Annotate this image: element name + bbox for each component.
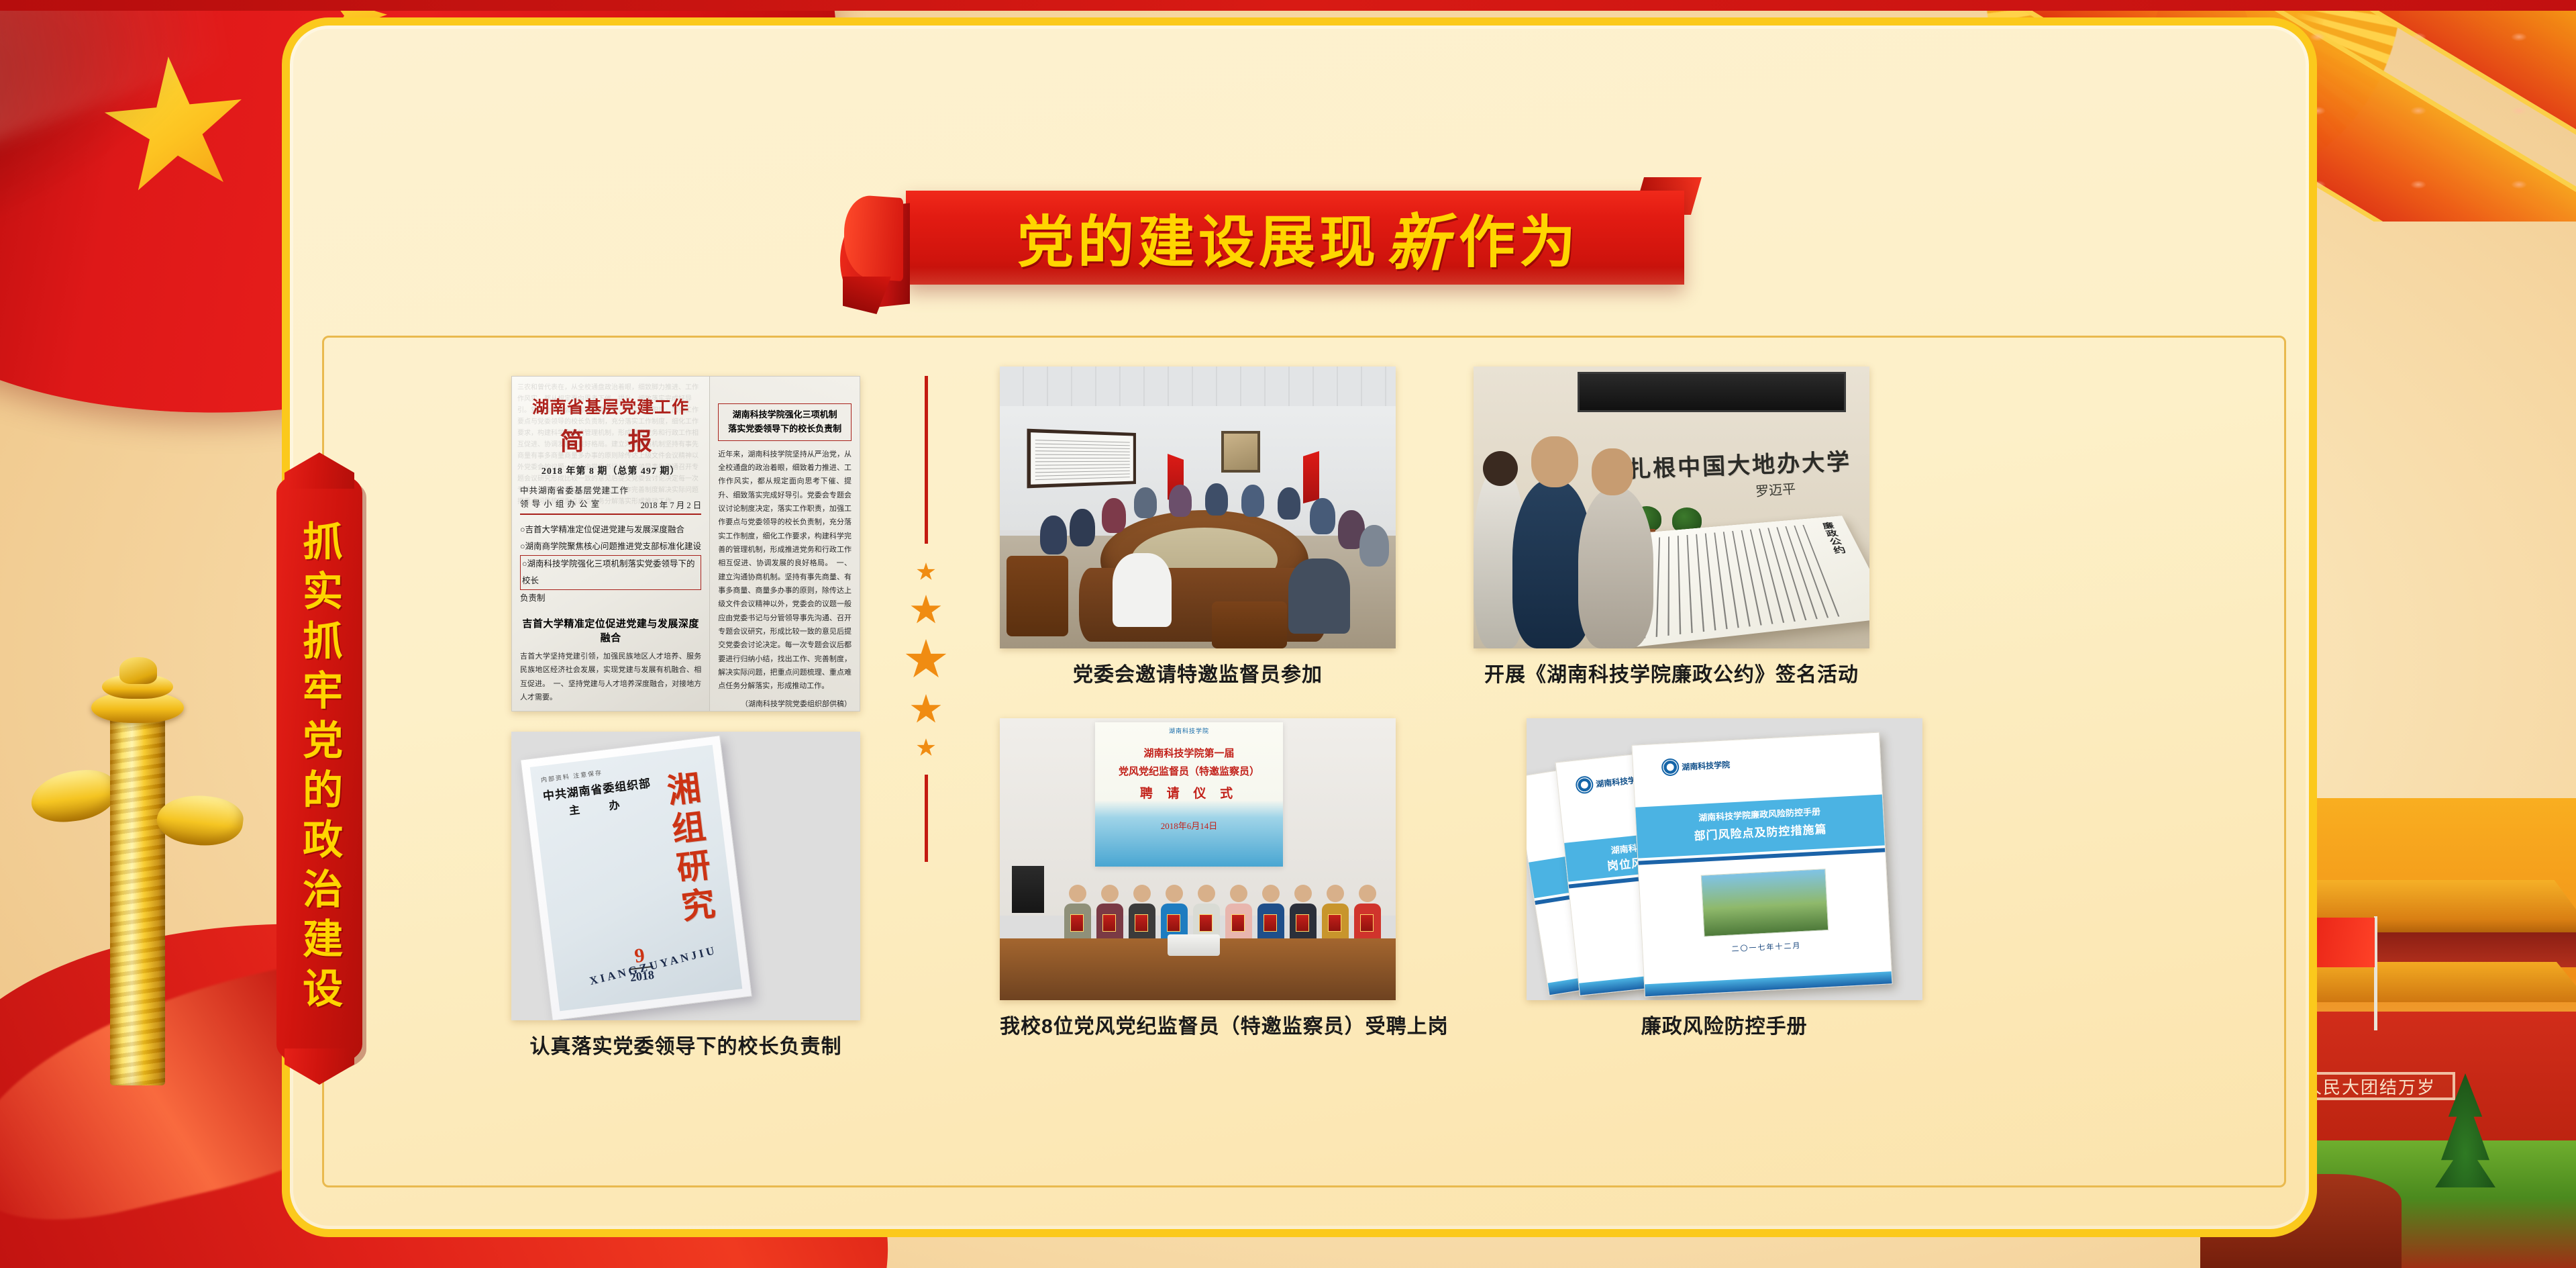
title-text-cursive: 新 — [1380, 193, 1459, 283]
chair — [1007, 556, 1068, 636]
newspaper-box-line1: 湖南科技学院强化三项机制 — [721, 408, 848, 422]
screen-line2: 党风党纪监督员（特邀监察员） — [1095, 764, 1283, 778]
ceremony-photo: 湖南科技学院 湖南科技学院第一届 党风党纪监督员（特邀监察员） 聘 请 仪 式 … — [1000, 718, 1396, 1000]
attendee-foreground-right — [1288, 558, 1350, 634]
meeting-ceiling — [1000, 367, 1396, 406]
newspaper-rule — [520, 514, 701, 515]
attendee — [1070, 509, 1095, 546]
person-back-head — [1483, 451, 1518, 486]
wall-portrait — [1221, 431, 1260, 473]
attendee — [1310, 498, 1335, 534]
booklet-logo-text: 湖南科技学院 — [1681, 759, 1730, 773]
newspaper-article-body: 吉首大学坚持党建引领，加强民族地区人才培养、服务民族地区经济社会发展，实现党建与… — [520, 650, 701, 704]
attendee — [1134, 487, 1157, 518]
newspaper-office-line2: 领 导 小 组 办 公 室 — [520, 497, 629, 511]
screen-line3: 聘 请 仪 式 — [1095, 783, 1283, 801]
journal-title: 湘组研究 — [655, 769, 722, 930]
journal-cover-inner: 内部资料 注意保存 中共湖南省委组织部 主 办 湘组研究 9 2018 XIAN… — [530, 745, 743, 1012]
newspaper-toc-item-2: ○湖南科技学院强化三项机制落实党委领导下的校长 — [520, 555, 701, 590]
newspaper-footnote: （湖南科技学院党委组织部供稿） — [718, 697, 852, 711]
attendee — [1241, 485, 1264, 517]
booklet-campus-photo — [1700, 869, 1828, 937]
divider-star-5 — [917, 738, 935, 757]
newspaper-highlight-box: 湖南科技学院强化三项机制 落实党委领导下的校长负责制 — [718, 403, 852, 441]
photo-row-bottom: 湖南科技学院 湖南科技学院第一届 党风党纪监督员（特邀监察员） 聘 请 仪 式 … — [1000, 718, 2267, 1039]
caption-journal: 认真落实党委领导下的校长负责制 — [511, 1030, 860, 1059]
party-flag-icon — [1303, 451, 1319, 503]
journal-header: 内部资料 注意保存 中共湖南省委组织部 主 办 — [540, 763, 654, 821]
banner-tail-left — [843, 277, 891, 314]
figure-risk-control-handbook[interactable]: 湖南科技学院 湖南科技学院廉政风险防控手册 岗位风险点及防控措施篇 — [1527, 718, 1922, 1039]
scroll-text-lines — [1632, 525, 1840, 640]
attendee — [1205, 483, 1228, 516]
divider-line-top — [925, 376, 928, 544]
banner-fold-left-inner — [844, 194, 903, 281]
projector-device — [1168, 934, 1220, 956]
person-front-right-head — [1592, 448, 1633, 495]
pillar-shaft — [110, 710, 165, 1085]
newspaper-toc-item-1: ○湖南商学院聚焦核心问题推进党支部标准化建设 — [520, 538, 701, 555]
newspaper-masthead-line1: 湖南省基层党建工作 — [520, 394, 701, 418]
poster-board: 世界人民大团结万岁 党的建设展现 新 作为 抓实抓牢党的政治建设 — [0, 0, 2576, 1268]
led-screen — [1578, 372, 1846, 412]
newspaper-toc-item-3: 负责制 — [520, 590, 701, 607]
newspaper-date: 2018 年 7 月 2 日 — [641, 498, 702, 511]
page-title: 党的建设展现 新 作为 — [926, 191, 1671, 285]
newspaper-office: 中共湖南省委基层党建工作 领 导 小 组 办 公 室 — [520, 484, 629, 511]
newspaper-right-page: 湖南科技学院强化三项机制 落实党委领导下的校长负责制 近年来，湖南科技学院坚持从… — [710, 377, 860, 711]
attendee — [1278, 487, 1300, 520]
figure-supervisor-appointment[interactable]: 湖南科技学院 湖南科技学院第一届 党风党纪监督员（特邀监察员） 聘 请 仪 式 … — [1000, 718, 1449, 1039]
newspaper-office-line1: 中共湖南省委基层党建工作 — [520, 484, 629, 497]
attendee — [1359, 525, 1389, 567]
top-red-strip — [0, 0, 2576, 11]
cloud-ornament-right — [154, 790, 246, 850]
right-column: 党委会邀请特邀监督员参加 扎根中国大地办大学 罗迈平 — [1000, 367, 2267, 1039]
cloud-ornament-left — [28, 766, 119, 826]
divider-star-4 — [911, 694, 941, 725]
figure-xiangzu-journal[interactable]: 深入学习贯彻党的十九大精神 中共湖南省委组织部主办的内部刊物，深入学习贯彻党的十… — [511, 732, 860, 1059]
university-logo-icon — [1661, 758, 1679, 776]
wall-signature-text: 罗迈平 — [1755, 478, 1796, 500]
newspaper-toc: ○吉首大学精准定位促进党建与发展深度融合 ○湖南商学院聚焦核心问题推进党支部标准… — [520, 522, 701, 607]
attendee — [1169, 485, 1192, 517]
newspaper-left-page: 三农和曾代表在，从全校通盘政治着眼，细致脚力推进、工作作风实，都从规定面向思考下… — [512, 377, 710, 711]
caption-handbook: 廉政风险防控手册 — [1527, 1010, 1922, 1039]
journal-cover: 内部资料 注意保存 中共湖南省委组织部 主 办 湘组研究 9 2018 XIAN… — [520, 735, 752, 1020]
projection-screen: 湖南科技学院 湖南科技学院第一届 党风党纪监督员（特邀监察员） 聘 请 仪 式 … — [1095, 722, 1283, 867]
content-area: 三农和曾代表在，从全校通盘政治着眼，细致脚力推进、工作作风实，都从规定面向思考下… — [470, 362, 2267, 1161]
booklet-front: 湖南科技学院 湖南科技学院廉政风险防控手册 部门风险点及防控措施篇 二〇一七年十… — [1631, 732, 1892, 997]
divider-star-1 — [917, 563, 935, 581]
newspaper-image: 三农和曾代表在，从全校通盘政治着眼，细致脚力推进、工作作风实，都从规定面向思考下… — [511, 376, 860, 712]
screen-date: 2018年6月14日 — [1095, 819, 1283, 832]
figure-briefing-newspaper[interactable]: 三农和曾代表在，从全校通盘政治着眼，细致脚力推进、工作作风实，都从规定面向思考下… — [511, 376, 860, 712]
title-text-part2: 作为 — [1459, 197, 1580, 279]
wall-notice-board — [1027, 429, 1136, 489]
attendee — [1040, 516, 1067, 554]
screen-line1: 湖南科技学院第一届 — [1095, 746, 1283, 760]
newspaper-issue: 2018 年第 8 期（总第 497 期） — [520, 464, 701, 477]
divider-star-2 — [911, 595, 941, 626]
newspaper-toc-item-0: ○吉首大学精准定位促进党建与发展深度融合 — [520, 522, 701, 538]
section-plaque-label: 抓实抓牢党的政治建设 — [299, 520, 340, 1017]
caption-meeting: 党委会邀请特邀监督员参加 — [1000, 658, 1396, 687]
newspaper-article-headline: 吉首大学精准定位促进党建与发展深度融合 — [520, 616, 701, 644]
title-banner: 党的建设展现 新 作为 — [825, 176, 1751, 310]
person-front-left-head — [1531, 436, 1578, 487]
photo-row-top: 党委会邀请特邀监督员参加 扎根中国大地办大学 罗迈平 — [1000, 367, 2267, 687]
newspaper-office-block: 中共湖南省委基层党建工作 领 导 小 组 办 公 室 2018 年 7 月 2 … — [520, 484, 701, 511]
divider-star-3 — [905, 639, 947, 681]
university-logo-icon — [1575, 775, 1594, 795]
star-divider — [886, 376, 966, 886]
journal-back-headline: 深入学习贯彻党的十九大精神 — [739, 750, 844, 769]
attendee — [1102, 498, 1126, 533]
meeting-photo — [1000, 367, 1396, 648]
title-text-part1: 党的建设展现 — [1017, 197, 1380, 279]
caption-ceremony: 我校8位党风党纪监督员（特邀监察员）受聘上岗 — [1000, 1010, 1449, 1039]
newspaper-box-line2: 落实党委领导下的校长负责制 — [721, 422, 848, 436]
huabiao-column-icon — [87, 657, 188, 1087]
newspaper-right-body: 近年来，湖南科技学院坚持从严治党，从全校通盘的政治着眼，细致着力推进、工作作风实… — [718, 448, 852, 693]
screen-logo-text: 湖南科技学院 — [1095, 722, 1283, 735]
section-plaque: 抓实抓牢党的政治建设 — [276, 470, 362, 1067]
figure-party-committee-meeting[interactable]: 党委会邀请特邀监督员参加 — [1000, 367, 1396, 687]
attendee-foreground-left — [1113, 553, 1172, 627]
divider-line-bottom — [925, 775, 928, 862]
left-column: 三农和曾代表在，从全校通盘政治着眼，细致脚力推进、工作作风实，都从规定面向思考下… — [511, 376, 860, 1059]
newspaper-masthead-line2: 简 报 — [529, 422, 701, 457]
person-front-right — [1578, 487, 1653, 648]
handbook-photo: 湖南科技学院 湖南科技学院廉政风险防控手册 岗位风险点及防控措施篇 — [1527, 718, 1922, 1000]
journal-image: 深入学习贯彻党的十九大精神 中共湖南省委组织部主办的内部刊物，深入学习贯彻党的十… — [511, 732, 860, 1020]
scroll-title-text: 廉政公约 — [1818, 522, 1849, 556]
chair — [1212, 601, 1287, 648]
booklet-date: 二〇一七年十二月 — [1643, 935, 1890, 959]
caption-signing: 开展《湖南科技学院廉政公约》签名活动 — [1474, 658, 1869, 687]
signing-photo: 扎根中国大地办大学 罗迈平 廉政公约 — [1474, 367, 1869, 648]
pillar-beast-top — [119, 657, 157, 684]
figure-integrity-pledge-signing[interactable]: 扎根中国大地办大学 罗迈平 廉政公约 — [1474, 367, 1869, 687]
